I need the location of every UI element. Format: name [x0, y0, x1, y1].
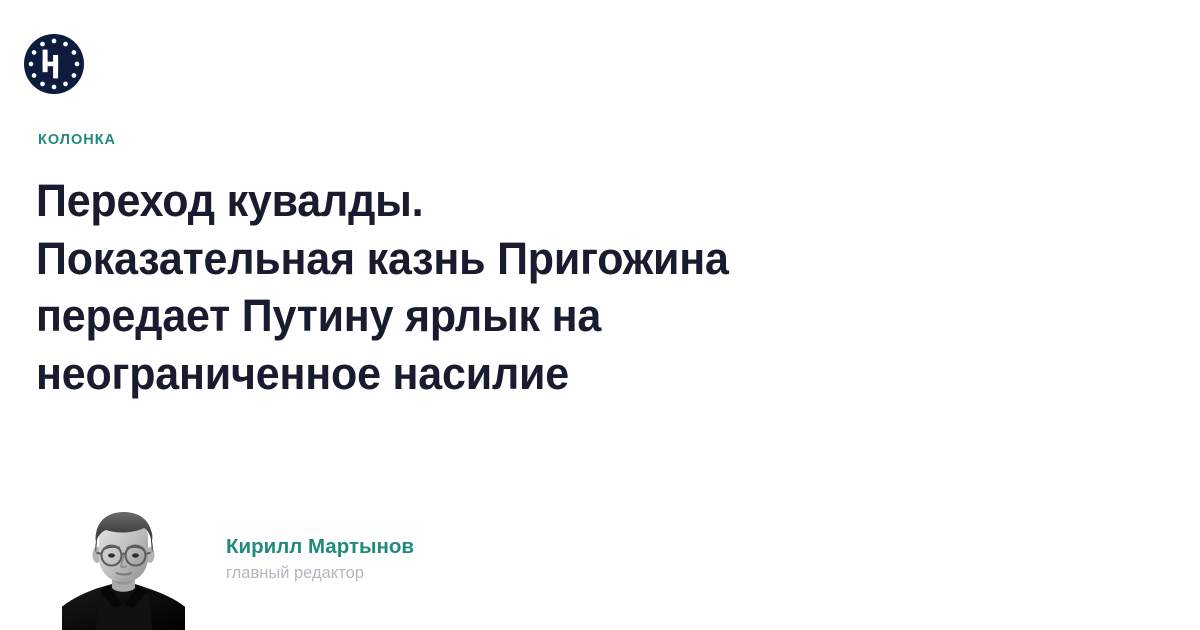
- headline-line: неограниченное насилие: [36, 345, 934, 403]
- headline-line: передает Путину ярлык на: [36, 287, 934, 345]
- author-block[interactable]: Кирилл Мартынов главный редактор: [62, 508, 762, 630]
- article-headline[interactable]: Переход кувалды. Показательная казнь При…: [36, 172, 934, 402]
- headline-line: Показательная казнь Пригожина: [36, 230, 934, 288]
- novaya-gazeta-circle-logo-icon: [24, 34, 84, 94]
- author-portrait-photo-icon: [62, 508, 185, 630]
- author-name[interactable]: Кирилл Мартынов: [226, 534, 414, 560]
- headline-line: Переход кувалды.: [36, 172, 934, 230]
- author-info: Кирилл Мартынов главный редактор: [226, 534, 414, 584]
- article-share-card: КОЛОНКА Переход кувалды. Показательная к…: [0, 0, 1200, 630]
- article-kicker[interactable]: КОЛОНКА: [38, 131, 116, 149]
- site-logo[interactable]: [24, 34, 84, 94]
- avatar[interactable]: [62, 508, 185, 630]
- author-role: главный редактор: [226, 563, 414, 584]
